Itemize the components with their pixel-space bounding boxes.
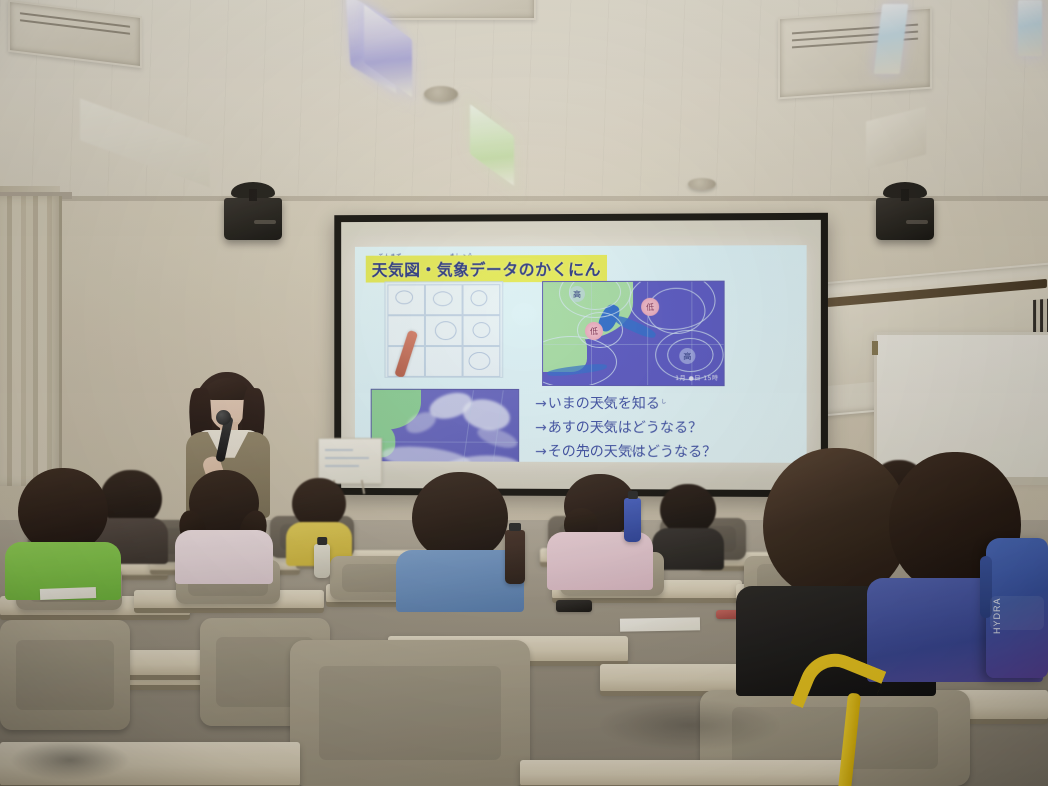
- screen-surface: てんきず きしょう 天気図・気象データのかくにん: [341, 220, 821, 490]
- student-3: [176, 466, 272, 582]
- backpack[interactable]: HYDRA: [986, 538, 1048, 678]
- presentation-slide: てんきず きしょう 天気図・気象データのかくにん: [355, 245, 807, 463]
- fluorescent-light-5: [1018, 0, 1042, 56]
- bullet-2-furigana-1: てんき: [597, 414, 615, 438]
- high-pressure-label-2: 高: [569, 286, 585, 302]
- worksheet-2[interactable]: [620, 617, 700, 631]
- bullet-3-furigana-1: さき: [579, 438, 591, 462]
- smoke-detector-1: [424, 86, 458, 102]
- bullet-1-furigana-1: てんき: [597, 390, 615, 414]
- bullet-arrow: →: [535, 444, 547, 460]
- microphone-head: [216, 410, 231, 425]
- slide-title: 天気図・気象データのかくにん: [366, 255, 607, 283]
- chair-front-3[interactable]: [290, 640, 530, 786]
- smoke-detector-2: [688, 178, 716, 190]
- floor-shadow-left: [10, 740, 130, 780]
- backpack-brand-text: HYDRA: [992, 597, 1002, 634]
- weather-chart-timestamp: 1月 ●日 15時: [675, 373, 718, 382]
- student-7: [652, 484, 724, 566]
- projection-screen: てんきず きしょう 天気図・気象データのかくにん: [334, 213, 828, 497]
- weather-chart-thumbnail-grid: [384, 281, 503, 378]
- ac-vent-2: [778, 7, 932, 100]
- bullet-3-furigana-2: てんき: [623, 438, 641, 462]
- bullet-arrow: →: [535, 396, 547, 412]
- bullet-text: あすの天気はどうなる？: [548, 420, 702, 436]
- window-curtain[interactable]: [0, 196, 62, 486]
- umbrella-handle[interactable]: [800, 655, 886, 786]
- bullet-item-1: てんき し →いまの天気を知る: [535, 392, 802, 417]
- surface-weather-chart: 低 低 高 高 1月 ●日 15時: [542, 281, 725, 387]
- low-pressure-label-2: 低: [585, 322, 603, 340]
- water-bottle-3[interactable]: [314, 544, 330, 578]
- bullet-arrow: →: [535, 420, 547, 436]
- bullet-item-2: てんき →あすの天気はどうなる？: [535, 416, 802, 441]
- floor-shadow-right: [600, 700, 780, 750]
- pencil-case-1[interactable]: [556, 600, 592, 612]
- low-pressure-label-1: 低: [641, 298, 659, 316]
- student-1: [8, 468, 118, 588]
- student-5: [400, 472, 520, 608]
- worksheet-1[interactable]: [40, 587, 96, 600]
- high-pressure-label-1: 高: [679, 348, 695, 364]
- bullet-1-furigana-2: し: [661, 390, 667, 414]
- ceiling-speaker-right: [876, 198, 934, 240]
- classroom-photo: てんきず きしょう 天気図・気象データのかくにん: [0, 0, 1048, 786]
- chair-front-1[interactable]: [0, 620, 130, 730]
- ceiling-speaker-left: [224, 198, 282, 240]
- water-bottle-2[interactable]: [624, 498, 641, 542]
- satellite-cloud-image: 1月 ●日 15時: [371, 389, 519, 463]
- water-bottle-1[interactable]: [505, 530, 525, 584]
